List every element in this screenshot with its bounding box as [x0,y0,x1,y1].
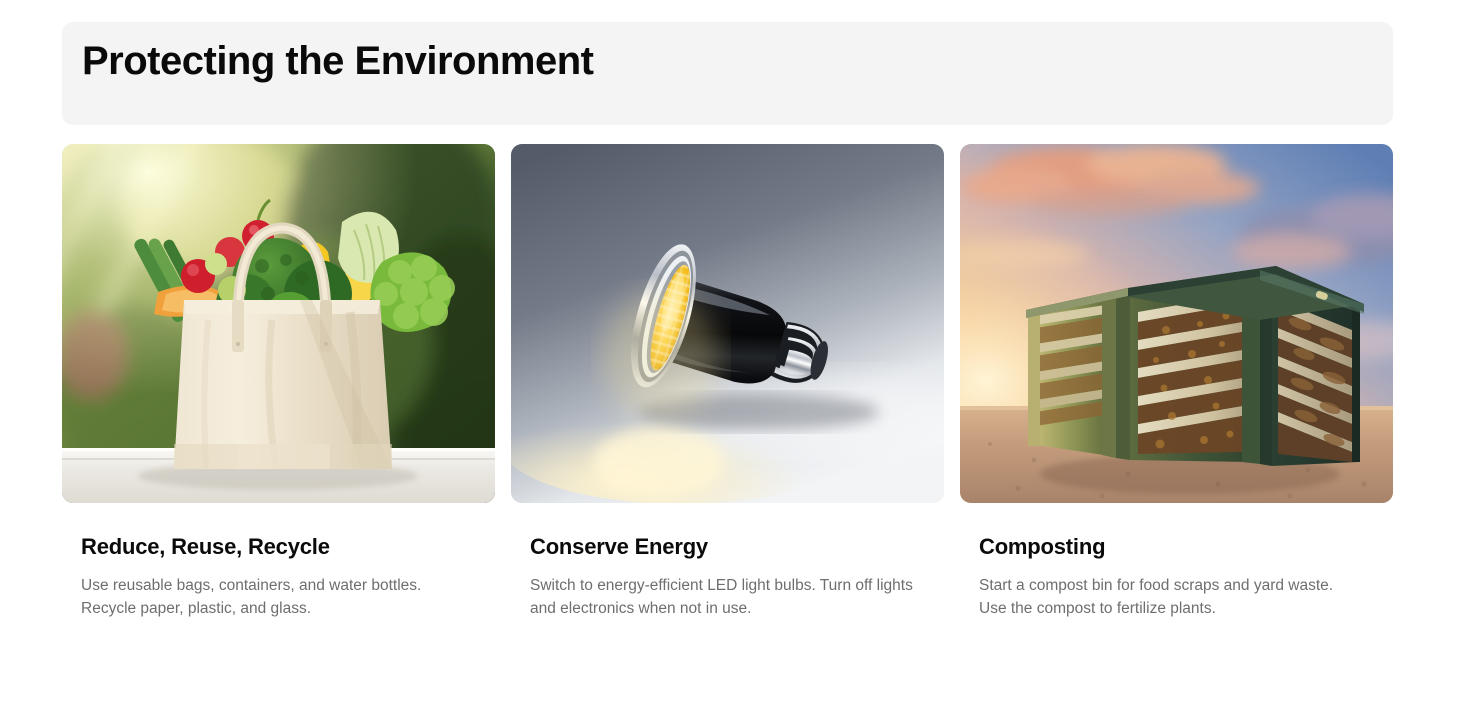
compost-bin-image [960,144,1393,503]
card-title: Reduce, Reuse, Recycle [62,533,495,561]
card-composting[interactable]: Composting Start a compost bin for food … [960,144,1393,620]
environment-tips-page: Protecting the Environment [0,0,1474,713]
page-title: Protecting the Environment [82,35,594,87]
tips-card-grid: Reduce, Reuse, Recycle Use reusable bags… [62,144,1393,620]
card-description: Use reusable bags, containers, and water… [62,574,472,620]
led-light-bulb-image [511,144,944,503]
card-description: Switch to energy-efficient LED light bul… [511,574,921,620]
card-conserve-energy[interactable]: Conserve Energy Switch to energy-efficie… [511,144,944,620]
card-description: Start a compost bin for food scraps and … [960,574,1370,620]
card-title: Composting [960,533,1393,561]
reusable-tote-bag-with-vegetables-image [62,144,495,503]
card-title: Conserve Energy [511,533,944,561]
page-header-panel: Protecting the Environment [62,22,1393,125]
card-reduce-reuse-recycle[interactable]: Reduce, Reuse, Recycle Use reusable bags… [62,144,495,620]
